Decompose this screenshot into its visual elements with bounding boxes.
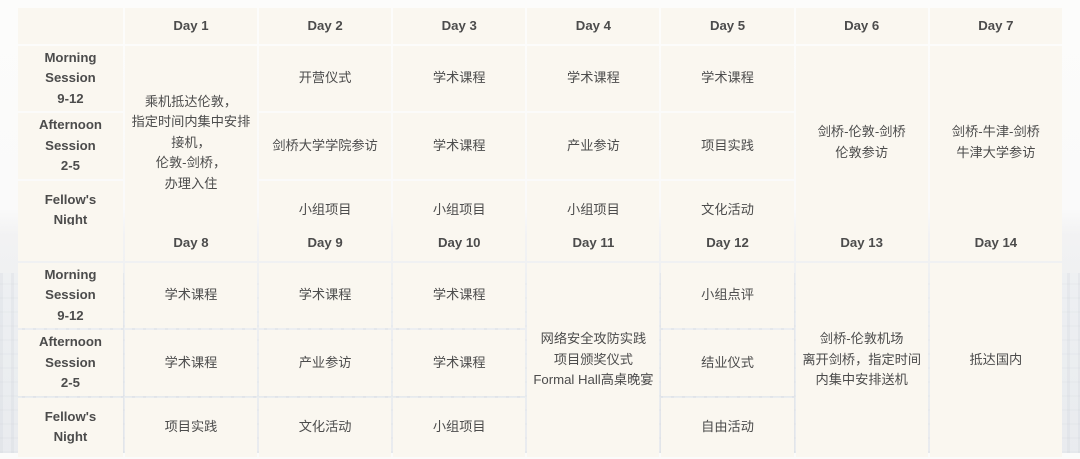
corner-cell [18,8,123,44]
cell-line: 牛津大学参访 [934,143,1058,163]
cell-line: 抵达国内 [934,350,1058,370]
session-label-line: Night [22,427,119,447]
day-header-day-13: Day 13 [796,225,928,261]
cell-day-3-morning: 学术课程 [393,46,525,111]
cell-day-11-all-sessions: 网络安全攻防实践 项目颁奖仪式 Formal Hall高桌晚宴 [527,263,659,457]
cell-day-9-afternoon: 产业参访 [259,330,391,395]
cell-line: 指定时间内集中安排 [129,112,253,132]
day-header-day-10: Day 10 [393,225,525,261]
table-row-morning-session: Morning Session 9-12 学术课程 学术课程 学术课程 网络安全… [18,263,1062,328]
day-header-day-2: Day 2 [259,8,391,44]
session-label-line: 9-12 [22,306,119,326]
session-label-line: Session [22,353,119,373]
day-header-day-4: Day 4 [527,8,659,44]
cell-day-5-morning: 学术课程 [661,46,793,111]
cell-day-9-morning: 学术课程 [259,263,391,328]
cell-day-7-all-sessions: 剑桥-牛津-剑桥 牛津大学参访 [930,46,1062,240]
cell-day-3-afternoon: 学术课程 [393,113,525,178]
session-label-line: 2-5 [22,156,119,176]
schedule-table-week-1: Day 1 Day 2 Day 3 Day 4 Day 5 Day 6 Day … [16,6,1064,242]
session-label-line: Fellow's [22,407,119,427]
cell-day-12-night: 自由活动 [661,398,793,457]
session-label-fellows-night: Fellow's Night [18,398,123,457]
session-label-afternoon: Afternoon Session 2-5 [18,330,123,395]
session-label-line: Fellow's [22,190,119,210]
cell-day-10-morning: 学术课程 [393,263,525,328]
cell-line: Formal Hall高桌晚宴 [531,370,655,390]
session-label-line: 9-12 [22,89,119,109]
schedule-page: Day 1 Day 2 Day 3 Day 4 Day 5 Day 6 Day … [0,0,1080,453]
cell-day-12-afternoon: 结业仪式 [661,330,793,395]
day-header-day-3: Day 3 [393,8,525,44]
cell-line: 办理入住 [129,174,253,194]
table-row-morning-session: Morning Session 9-12 乘机抵达伦敦， 指定时间内集中安排 接… [18,46,1062,111]
day-header-day-5: Day 5 [661,8,793,44]
cell-day-9-night: 文化活动 [259,398,391,457]
day-header-day-1: Day 1 [125,8,257,44]
session-label-line: Afternoon [22,115,119,135]
cell-day-4-morning: 学术课程 [527,46,659,111]
table-header-row: Day 1 Day 2 Day 3 Day 4 Day 5 Day 6 Day … [18,8,1062,44]
cell-day-4-afternoon: 产业参访 [527,113,659,178]
session-label-line: Session [22,68,119,88]
cell-day-14-all-sessions: 抵达国内 [930,263,1062,457]
schedule-table-week-2: Day 8 Day 9 Day 10 Day 11 Day 12 Day 13 … [16,223,1064,459]
session-label-line: Session [22,285,119,305]
cell-day-1-all-sessions: 乘机抵达伦敦， 指定时间内集中安排 接机， 伦敦-剑桥， 办理入住 [125,46,257,240]
cell-day-10-afternoon: 学术课程 [393,330,525,395]
cell-line: 离开剑桥，指定时间内集中安排送机 [800,350,924,391]
corner-cell [18,225,123,261]
cell-day-12-morning: 小组点评 [661,263,793,328]
cell-day-8-night: 项目实践 [125,398,257,457]
cell-day-5-afternoon: 项目实践 [661,113,793,178]
session-label-morning: Morning Session 9-12 [18,263,123,328]
session-label-afternoon: Afternoon Session 2-5 [18,113,123,178]
session-label-line: Morning [22,48,119,68]
session-label-morning: Morning Session 9-12 [18,46,123,111]
cell-line: 剑桥-牛津-剑桥 [934,122,1058,142]
session-label-line: Afternoon [22,332,119,352]
session-label-line: 2-5 [22,373,119,393]
cell-day-8-afternoon: 学术课程 [125,330,257,395]
cell-line: 剑桥-伦敦-剑桥 [800,122,924,142]
session-label-line: Session [22,136,119,156]
session-label-line: Morning [22,265,119,285]
day-header-day-11: Day 11 [527,225,659,261]
day-header-day-8: Day 8 [125,225,257,261]
cell-day-8-morning: 学术课程 [125,263,257,328]
cell-day-2-morning: 开营仪式 [259,46,391,111]
table-header-row: Day 8 Day 9 Day 10 Day 11 Day 12 Day 13 … [18,225,1062,261]
cell-day-6-all-sessions: 剑桥-伦敦-剑桥 伦敦参访 [796,46,928,240]
day-header-day-6: Day 6 [796,8,928,44]
cell-line: 网络安全攻防实践 [531,329,655,349]
day-header-day-14: Day 14 [930,225,1062,261]
day-header-day-7: Day 7 [930,8,1062,44]
cell-line: 剑桥-伦敦机场 [800,329,924,349]
cell-day-10-night: 小组项目 [393,398,525,457]
cell-line: 接机， [129,133,253,153]
day-header-day-9: Day 9 [259,225,391,261]
cell-day-2-afternoon: 剑桥大学学院参访 [259,113,391,178]
day-header-day-12: Day 12 [661,225,793,261]
cell-line: 乘机抵达伦敦， [129,92,253,112]
cell-line: 伦敦参访 [800,143,924,163]
cell-line: 伦敦-剑桥， [129,153,253,173]
cell-line: 项目颁奖仪式 [531,350,655,370]
cell-day-13-all-sessions: 剑桥-伦敦机场 离开剑桥，指定时间内集中安排送机 [796,263,928,457]
